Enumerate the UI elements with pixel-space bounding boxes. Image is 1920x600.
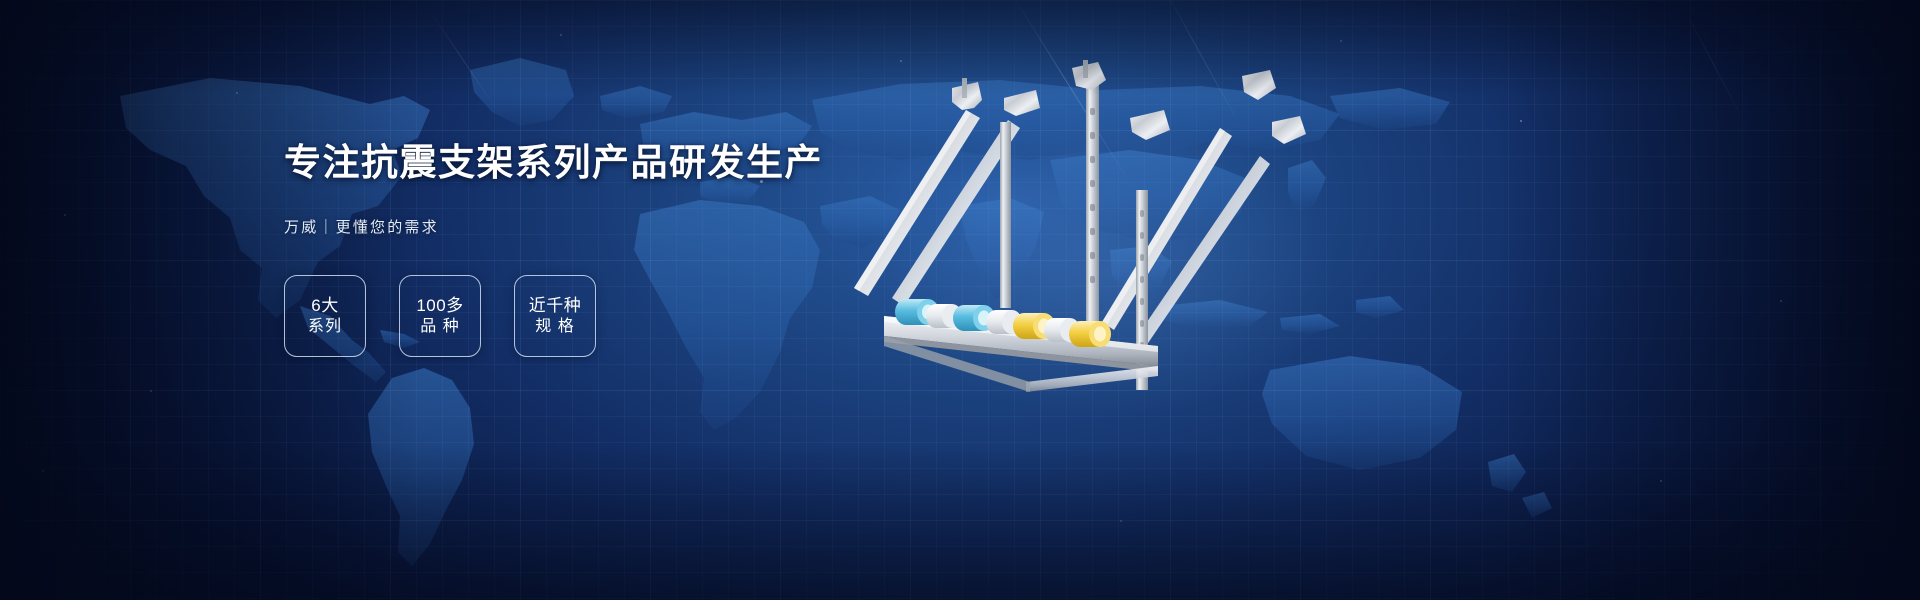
badge-primary-text: 6大	[311, 297, 338, 314]
product-image-seismic-bracing	[840, 60, 1340, 420]
badge-secondary-text: 品 种	[420, 319, 459, 335]
star-speck	[64, 214, 66, 216]
badge-secondary-text: 规 格	[535, 319, 574, 335]
star-speck	[1780, 300, 1782, 302]
banner-subtitle: 万威｜更懂您的需求	[284, 216, 904, 237]
feature-badge-group: 6大 系列 100多 品 种 近千种 规 格	[284, 275, 904, 357]
hero-banner: 专注抗震支架系列产品研发生产 万威｜更懂您的需求 6大 系列 100多 品 种 …	[0, 0, 1920, 600]
star-speck	[1660, 480, 1662, 482]
star-speck	[1340, 40, 1342, 42]
badge-primary-text: 近千种	[529, 297, 582, 314]
feature-badge-specifications[interactable]: 近千种 规 格	[514, 275, 596, 357]
badge-secondary-text: 系列	[308, 319, 342, 335]
feature-badge-series[interactable]: 6大 系列	[284, 275, 366, 357]
badge-primary-text: 100多	[416, 297, 463, 314]
banner-headline: 专注抗震支架系列产品研发生产	[284, 142, 904, 185]
star-speck	[42, 470, 44, 472]
star-speck	[1520, 120, 1522, 122]
star-speck	[560, 34, 562, 36]
star-speck	[1120, 520, 1122, 522]
banner-copy: 专注抗震支架系列产品研发生产 万威｜更懂您的需求 6大 系列 100多 品 种 …	[284, 142, 904, 357]
star-speck	[236, 92, 238, 94]
star-speck	[150, 390, 152, 392]
pipe-clamp-yellow-2	[1069, 321, 1111, 347]
feature-badge-varieties[interactable]: 100多 品 种	[399, 275, 481, 357]
